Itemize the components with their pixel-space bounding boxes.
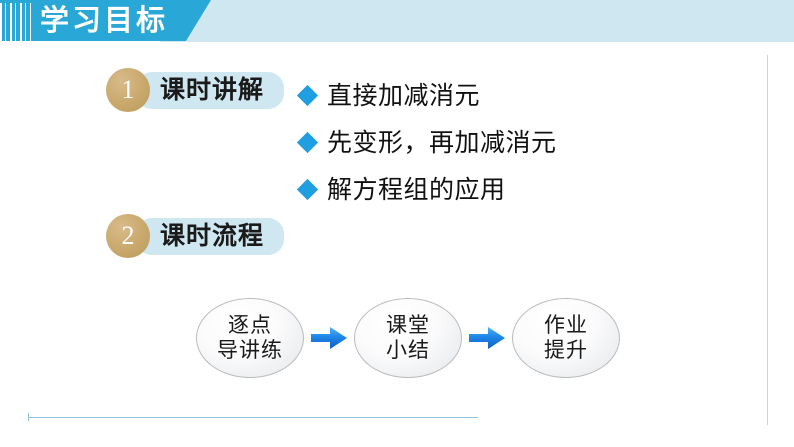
bullet-label: 直接加减消元 — [327, 81, 480, 111]
flow-node-3[interactable]: 作业 提升 — [512, 298, 620, 378]
section-heading-1: 1 课时讲解 — [106, 68, 284, 112]
diamond-bullet-icon — [297, 179, 318, 200]
section-number-badge-2: 2 — [106, 214, 150, 258]
right-arrow-icon — [467, 323, 507, 353]
bullet-label: 先变形，再加减消元 — [327, 128, 557, 158]
lesson-flow-diagram: 逐点 导讲练 课堂 小结 作业 提升 — [196, 298, 620, 378]
page-title: 学习目标 — [40, 4, 168, 38]
section-number-badge-1: 1 — [106, 68, 150, 112]
section-label-2: 课时流程 — [136, 218, 284, 255]
flow-node-1[interactable]: 逐点 导讲练 — [196, 298, 304, 378]
flow-node-2-line2: 小结 — [386, 338, 430, 363]
diamond-bullet-icon — [297, 85, 318, 106]
flow-node-1-line1: 逐点 — [228, 313, 272, 338]
flow-node-2[interactable]: 课堂 小结 — [354, 298, 462, 378]
flow-node-2-line1: 课堂 — [386, 313, 430, 338]
objective-bullet-list: 直接加减消元 先变形，再加减消元 解方程组的应用 — [300, 72, 557, 213]
vertical-stripes-icon — [0, 3, 31, 41]
list-item: 先变形，再加减消元 — [300, 119, 557, 166]
footer-horizontal-rule — [28, 417, 478, 418]
list-item: 解方程组的应用 — [300, 166, 557, 213]
right-vertical-rule — [767, 55, 768, 425]
right-arrow-icon — [309, 323, 349, 353]
bullet-label: 解方程组的应用 — [327, 175, 506, 205]
list-item: 直接加减消元 — [300, 72, 557, 119]
flow-node-3-line2: 提升 — [544, 338, 588, 363]
section-label-1: 课时讲解 — [136, 72, 284, 109]
flow-node-3-line1: 作业 — [544, 313, 588, 338]
diamond-bullet-icon — [297, 132, 318, 153]
slide-header: 学习目标 — [0, 0, 794, 44]
section-heading-2: 2 课时流程 — [106, 214, 284, 258]
flow-node-1-line2: 导讲练 — [217, 338, 283, 363]
